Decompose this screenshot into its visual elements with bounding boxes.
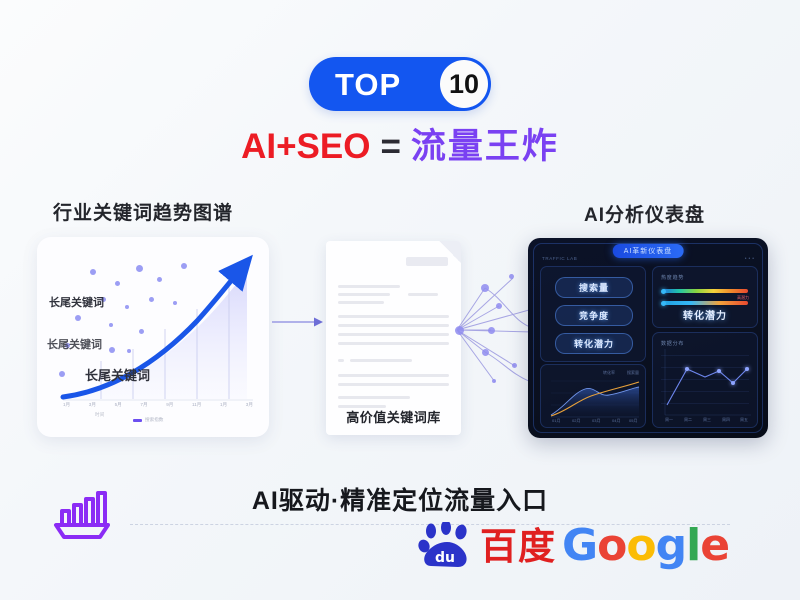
node-network-edges <box>455 270 535 390</box>
network-node <box>492 379 496 383</box>
keyword-label: 长尾关键词 <box>47 336 102 352</box>
top-badge-number-circle: 10 <box>440 60 488 108</box>
google-letter-o1: o <box>597 520 626 571</box>
metric-pill-search-volume[interactable]: 搜索量 <box>555 277 633 298</box>
scatter-dot <box>90 269 96 275</box>
headline-equals: = <box>380 127 400 166</box>
line-x-tick: 周三 <box>703 417 711 423</box>
baidu-paw-icon: du <box>418 522 474 570</box>
line-chart-panel: 数据分布 周一 周二 周三 周四 周五 <box>652 332 758 428</box>
scatter-dot <box>115 281 120 286</box>
node-network <box>455 270 535 390</box>
network-node <box>482 349 489 356</box>
x-tick: 11月 <box>192 402 201 408</box>
top-rank-badge: TOP 10 <box>309 57 491 111</box>
x-tick: 1月 <box>63 402 70 408</box>
google-letter-g1: G <box>562 520 597 571</box>
gauge-value-tag: 高潜力 <box>737 295 749 301</box>
area-x-tick: 04月 <box>612 418 620 424</box>
scatter-dot <box>181 263 187 269</box>
left-section-caption: 行业关键词趋势图谱 <box>53 198 233 225</box>
area-x-tick: 05月 <box>629 418 637 424</box>
line-point <box>685 367 689 371</box>
dashboard-menu-icon[interactable]: ••• <box>745 256 756 262</box>
flow-arrow-right <box>272 316 324 328</box>
main-headline: AI+SEO=流量王炸 <box>0 129 800 164</box>
line-point <box>731 381 735 385</box>
doc-text-line <box>338 324 449 327</box>
doc-text-line <box>338 333 449 336</box>
metric-pill-competition[interactable]: 竞争度 <box>555 305 633 326</box>
x-tick: 5月 <box>115 402 122 408</box>
doc-text-line <box>338 374 449 377</box>
trend-x-axis-label: 时间 <box>95 412 104 418</box>
network-node <box>512 363 517 368</box>
line-x-tick: 周一 <box>665 417 673 423</box>
gauge-panel-title: 热度趋势 <box>661 274 684 281</box>
google-letter-o2: o <box>626 520 655 571</box>
doc-caption: 高价值关键词库 <box>326 407 461 426</box>
top-badge-label: TOP <box>335 69 401 100</box>
doc-header-chip <box>406 257 448 266</box>
gauge-bar-secondary <box>662 301 748 305</box>
network-node <box>509 274 514 279</box>
scatter-dot <box>109 323 113 327</box>
area-chart-panel: 搜索量 转化率 01月 02月 03月 <box>540 364 646 428</box>
footer-title: AI驱动·精准定位流量入口 <box>0 481 800 517</box>
keyword-label: 长尾关键词 <box>85 365 150 384</box>
headline-chinese: 流量王炸 <box>411 127 559 166</box>
metric-pill-conversion-potential[interactable]: 转化潜力 <box>555 333 633 354</box>
headline-ai-seo: AI+SEO <box>241 127 370 166</box>
doc-text-line <box>338 301 384 304</box>
x-tick: 7月 <box>140 402 147 408</box>
scatter-dot <box>136 265 143 272</box>
x-tick: 9月 <box>166 402 173 408</box>
google-letter-e: e <box>700 520 729 571</box>
legend-swatch <box>133 419 142 422</box>
baidu-wordmark: 百度 <box>480 528 556 565</box>
network-node <box>496 303 502 309</box>
scatter-dot <box>157 277 162 282</box>
analytics-bar-icon <box>48 487 116 545</box>
x-tick: 3月 <box>246 402 253 408</box>
line-x-tick: 周二 <box>684 417 692 423</box>
doc-bullet <box>338 359 344 362</box>
line-point <box>717 369 721 373</box>
google-wordmark: Google <box>562 524 729 568</box>
line-chart-svg <box>653 333 757 427</box>
scatter-dot <box>173 301 177 305</box>
right-section-caption: AI分析仪表盘 <box>584 200 705 227</box>
doc-text-line <box>338 383 449 386</box>
legend-label: 搜索指数 <box>145 417 163 423</box>
gauge-overlay-text: 转化潜力 <box>653 307 757 322</box>
area-x-tick: 02月 <box>572 418 580 424</box>
gauge-knob-secondary[interactable] <box>661 301 666 306</box>
doc-text-line <box>338 396 410 399</box>
x-tick: 1月 <box>220 402 227 408</box>
doc-text-line <box>338 285 400 288</box>
scatter-dot <box>109 347 115 353</box>
doc-text-line <box>338 342 449 345</box>
network-node <box>488 327 495 334</box>
trend-x-axis: 1月 3月 5月 7月 9月 11月 1月 3月 <box>63 402 253 408</box>
scatter-dot <box>139 329 144 334</box>
keyword-library-card: 高价值关键词库 <box>326 241 461 435</box>
x-tick: 3月 <box>89 402 96 408</box>
keyword-label: 长尾关键词 <box>49 294 104 310</box>
area-x-tick: 03月 <box>592 418 600 424</box>
gauge-panel: 热度趋势 高潜力 转化潜力 <box>652 266 758 328</box>
gauge-knob[interactable] <box>661 289 666 294</box>
scatter-dot <box>59 371 65 377</box>
network-node <box>455 326 464 335</box>
scatter-dot <box>75 315 81 321</box>
network-node <box>481 284 489 292</box>
keyword-trend-card: 长尾关键词 长尾关键词 长尾关键词 1月 3月 5月 7月 9月 11月 1月 … <box>37 237 269 437</box>
infographic-canvas: TOP 10 AI+SEO=流量王炸 行业关键词趋势图谱 AI分析仪表盘 <box>0 0 800 600</box>
scatter-dot <box>125 305 129 309</box>
dashboard-brand-label: TRAFFIC LAB <box>542 256 577 261</box>
doc-text-line <box>408 293 438 296</box>
doc-text-line <box>338 293 390 296</box>
gauge-bar-rainbow <box>662 289 748 293</box>
trend-legend: 搜索指数 <box>133 417 163 423</box>
google-letter-l: l <box>686 520 700 571</box>
line-x-tick: 周四 <box>722 417 730 423</box>
scatter-dot <box>149 297 154 302</box>
line-x-tick: 周五 <box>740 417 748 423</box>
metric-pills-panel: 搜索量 竞争度 转化潜力 <box>540 266 646 362</box>
doc-text-line <box>338 315 449 318</box>
dashboard-header-badge: AI革新仪表盘 <box>613 244 684 258</box>
top-badge-number: 10 <box>449 69 479 100</box>
search-engine-brands: du 百度 Google <box>418 522 729 570</box>
ai-dashboard-card: AI革新仪表盘 TRAFFIC LAB ••• 搜索量 竞争度 转化潜力 搜索量… <box>528 238 768 438</box>
google-letter-g2: g <box>656 520 687 571</box>
area-x-tick: 01月 <box>552 418 560 424</box>
scatter-dot <box>127 349 131 353</box>
doc-text-line <box>350 359 412 362</box>
line-point <box>745 367 749 371</box>
baidu-du-mark: du <box>435 550 455 566</box>
